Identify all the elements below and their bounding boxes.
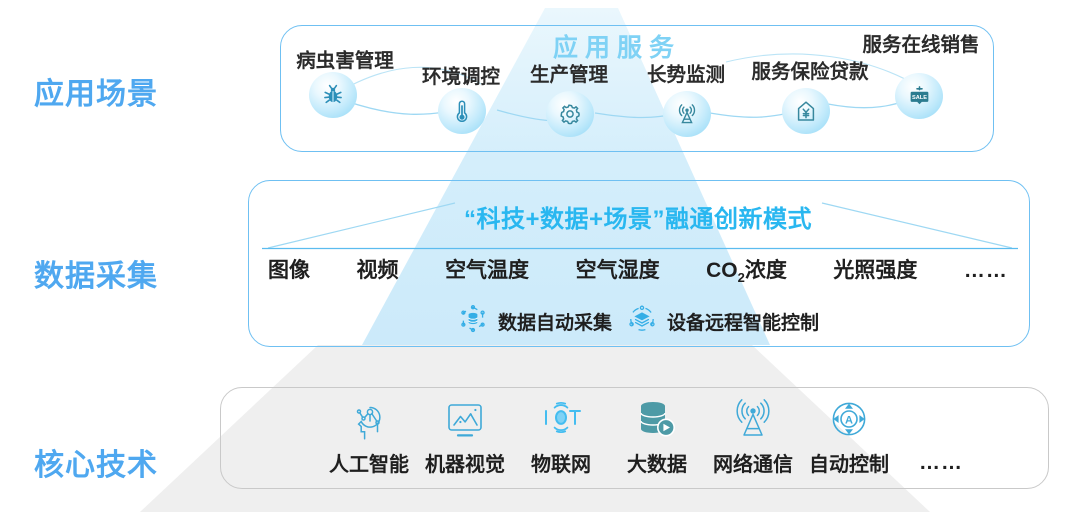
row-label-core-technology: 核心技术 — [34, 440, 158, 484]
capability-label: 数据自动采集 — [498, 308, 612, 335]
infographic-canvas: 应用场景 应用服务 病虫害管理 — [0, 0, 1080, 512]
big-data-icon — [634, 396, 680, 444]
tech-label: 自动控制 — [809, 448, 889, 477]
tech-label: 人工智能 — [329, 448, 409, 477]
tech-label: 网络通信 — [713, 448, 793, 477]
svg-text:A: A — [845, 414, 853, 426]
data-items-ellipsis: …… — [964, 259, 1008, 283]
co2-subscript: 2 — [738, 270, 745, 285]
auto-control-icon: A — [826, 396, 872, 444]
data-item: 光照强度 — [833, 254, 917, 284]
tech-label: 物联网 — [531, 448, 591, 477]
capability-remote-device-control[interactable]: 设备远程智能控制 — [626, 303, 819, 340]
capability-label: 设备远程智能控制 — [667, 308, 819, 335]
co2-suffix: 浓度 — [745, 259, 787, 282]
ai-brain-icon — [347, 396, 391, 444]
tech-items-ellipsis: …… — [919, 451, 963, 477]
core-technology-item-list: 人工智能 机器视觉 — [321, 396, 1021, 477]
data-item: 图像 — [268, 254, 310, 284]
data-item: 空气湿度 — [576, 254, 660, 284]
data-collection-capabilities: 数据自动采集 设备远程智能控制 — [457, 303, 819, 340]
data-collection-title: “科技+数据+场景”融通创新模式 — [464, 199, 812, 234]
iot-icon — [538, 396, 584, 444]
tech-item-iot[interactable]: 物联网 — [513, 396, 609, 477]
machine-vision-icon — [442, 396, 488, 444]
tech-item-auto-control[interactable]: A 自动控制 — [801, 396, 897, 477]
data-item: 空气温度 — [445, 254, 529, 284]
capability-auto-data-collection[interactable]: 数据自动采集 — [457, 303, 612, 340]
tech-item-network-communication[interactable]: 网络通信 — [705, 396, 801, 477]
tech-label: 机器视觉 — [425, 448, 505, 477]
database-network-icon — [457, 303, 489, 340]
data-collection-item-list: 图像 视频 空气温度 空气湿度 CO2浓度 光照强度 …… — [268, 254, 1008, 285]
tech-item-machine-vision[interactable]: 机器视觉 — [417, 396, 513, 477]
layers-network-icon — [626, 303, 658, 340]
data-item-co2: CO2浓度 — [706, 254, 787, 285]
co2-prefix: CO — [706, 259, 738, 282]
row-label-data-collection: 数据采集 — [34, 251, 158, 295]
tech-item-ai[interactable]: 人工智能 — [321, 396, 417, 477]
tech-item-big-data[interactable]: 大数据 — [609, 396, 705, 477]
row-label-application: 应用场景 — [34, 69, 158, 113]
tech-label: 大数据 — [627, 448, 687, 477]
data-item: 视频 — [357, 254, 399, 284]
network-antenna-icon — [730, 396, 776, 444]
